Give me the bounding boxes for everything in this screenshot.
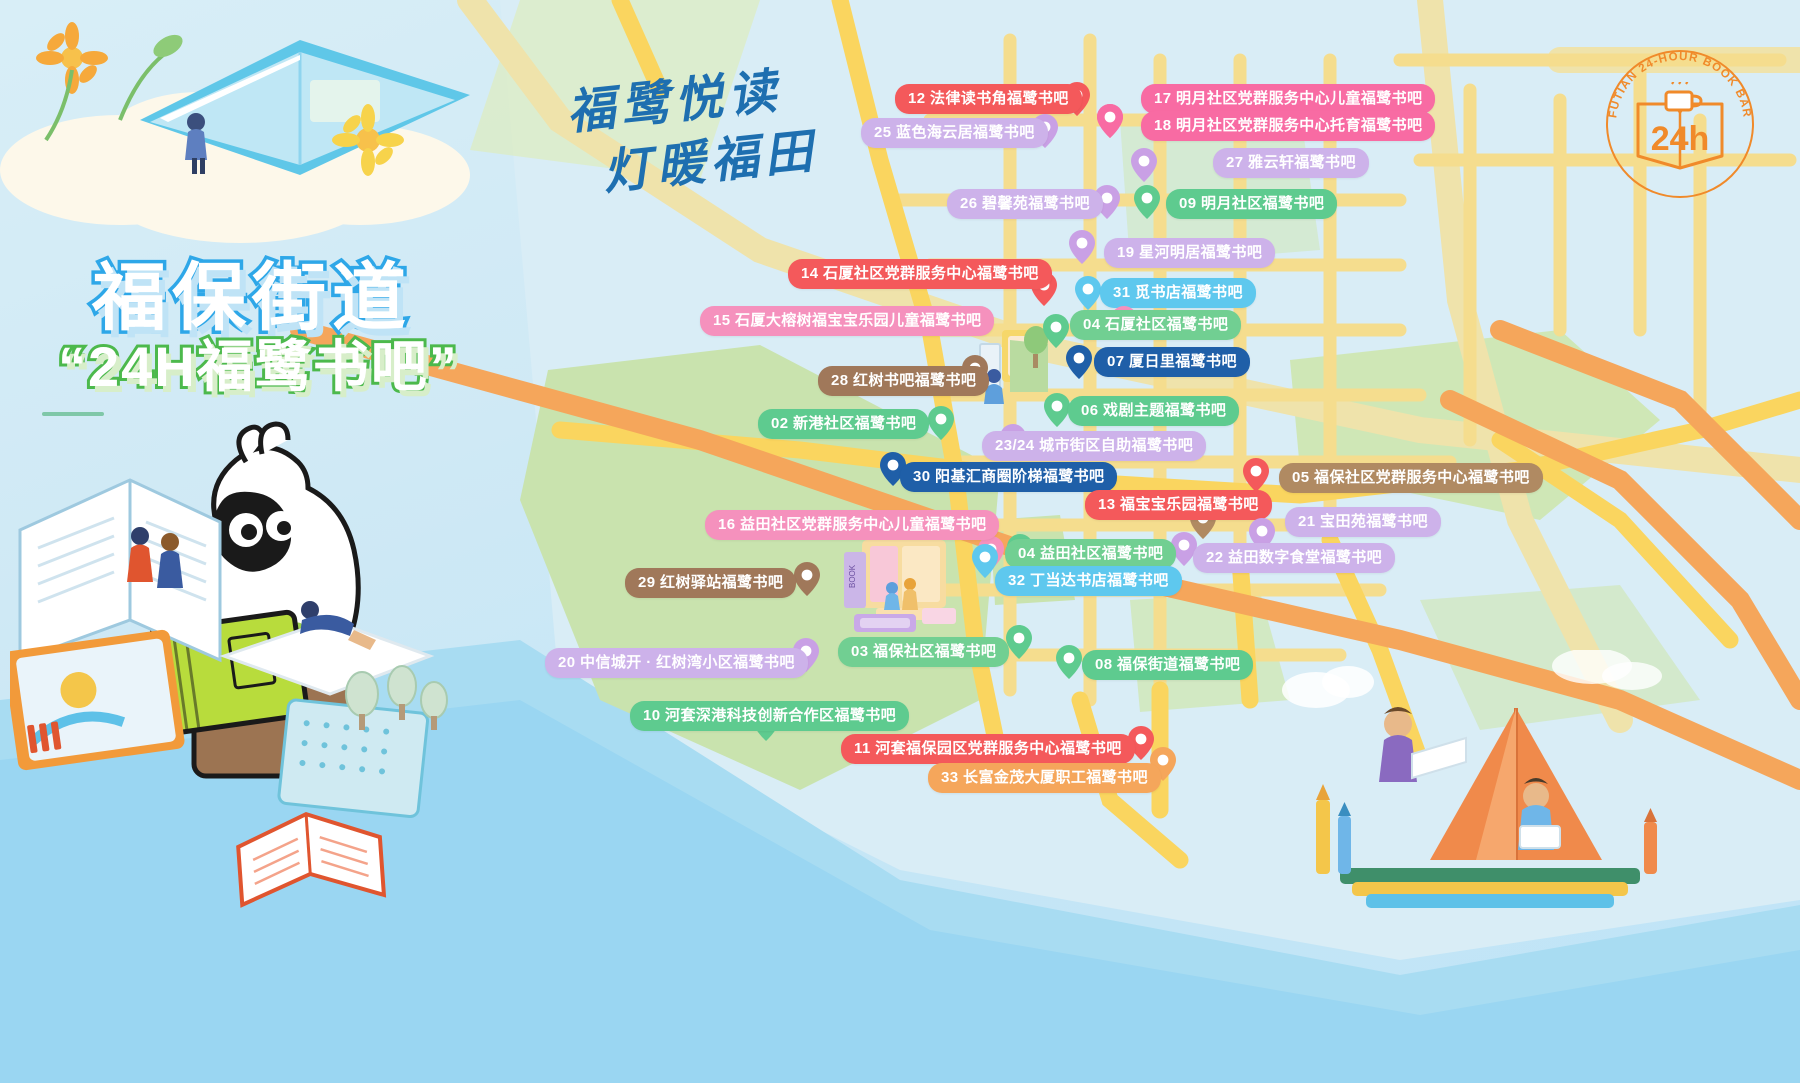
illustration-kids-tent-reading: [1280, 650, 1700, 920]
illustration-books-left: [10, 470, 490, 910]
map-label-30[interactable]: 30 阳基汇商圈阶梯福鹭书吧: [900, 462, 1117, 492]
map-label-21[interactable]: 21 宝田苑福鹭书吧: [1285, 507, 1441, 537]
map-label-20[interactable]: 20 中信城开 · 红树湾小区福鹭书吧: [545, 648, 808, 678]
map-pin-05[interactable]: [1243, 458, 1269, 492]
page-subtitle: “24H福鹭书吧”: [58, 322, 459, 403]
badge-center-label: 24h: [1651, 120, 1710, 158]
map-label-17[interactable]: 17 明月社区党群服务中心儿童福鹭书吧: [1141, 84, 1435, 114]
map-label-29[interactable]: 29 红树驿站福鹭书吧: [625, 568, 796, 598]
map-label-10[interactable]: 10 河套深港科技创新合作区福鹭书吧: [630, 701, 909, 731]
map-label-14[interactable]: 14 石厦社区党群服务中心福鹭书吧: [788, 259, 1052, 289]
map-pin-08[interactable]: [1056, 645, 1082, 679]
map-label-04a[interactable]: 04 石厦社区福鹭书吧: [1070, 310, 1241, 340]
map-pin-06[interactable]: [1044, 393, 1070, 427]
map-label-07[interactable]: 07 厦日里福鹭书吧: [1094, 347, 1250, 377]
map-label-22[interactable]: 22 益田数字食堂福鹭书吧: [1193, 543, 1395, 573]
map-pin-18[interactable]: [1097, 104, 1123, 138]
map-label-16[interactable]: 16 益田社区党群服务中心儿童福鹭书吧: [705, 510, 999, 540]
map-pin-03[interactable]: [1006, 625, 1032, 659]
map-label-32[interactable]: 32 丁当达书店福鹭书吧: [995, 566, 1182, 596]
map-pin-19[interactable]: [1069, 230, 1095, 264]
illustration-open-book-cloud: [0, 0, 520, 250]
map-label-09[interactable]: 09 明月社区福鹭书吧: [1166, 189, 1337, 219]
map-pin-29[interactable]: [794, 562, 820, 596]
map-pin-27[interactable]: [1131, 148, 1157, 182]
map-label-18[interactable]: 18 明月社区党群服务中心托育福鹭书吧: [1141, 111, 1435, 141]
coffee-cup-icon: [1666, 82, 1701, 110]
title-divider: [42, 412, 104, 416]
map-label-06[interactable]: 06 戏剧主题福鹭书吧: [1068, 396, 1239, 426]
illustration-reading-room: BOOK: [840, 530, 970, 640]
map-label-28[interactable]: 28 红树书吧福鹭书吧: [818, 366, 989, 396]
map-label-25[interactable]: 25 蓝色海云居福鹭书吧: [861, 118, 1048, 148]
map-pin-02[interactable]: [928, 406, 954, 440]
map-label-31[interactable]: 31 觅书店福鹭书吧: [1100, 278, 1256, 308]
map-label-04b[interactable]: 04 益田社区福鹭书吧: [1005, 539, 1176, 569]
map-label-08[interactable]: 08 福保街道福鹭书吧: [1082, 650, 1253, 680]
map-pin-04a[interactable]: [1043, 314, 1069, 348]
futian-24h-book-bar-badge: · FUTIAN 24-HOUR BOOK BAR · 24h: [1598, 42, 1762, 206]
map-label-33[interactable]: 33 长富金茂大厦职工福鹭书吧: [928, 763, 1161, 793]
map-label-19[interactable]: 19 星河明居福鹭书吧: [1104, 238, 1275, 268]
map-pin-09[interactable]: [1134, 185, 1160, 219]
map-label-15[interactable]: 15 石厦大榕树福宝宝乐园儿童福鹭书吧: [700, 306, 994, 336]
map-pin-31[interactable]: [1075, 276, 1101, 310]
map-label-03[interactable]: 03 福保社区福鹭书吧: [838, 637, 1009, 667]
map-label-2324[interactable]: 23/24 城市街区自助福鹭书吧: [982, 431, 1206, 461]
map-label-02[interactable]: 02 新港社区福鹭书吧: [758, 409, 929, 439]
poster-canvas: 福鹭悦读 灯暖福田 福保街道 “24H福鹭书吧” · FUTIAN 24-HOU…: [0, 0, 1800, 1083]
map-pin-07[interactable]: [1066, 345, 1092, 379]
map-label-11[interactable]: 11 河套福保园区党群服务中心福鹭书吧: [841, 734, 1135, 764]
svg-text:BOOK: BOOK: [848, 564, 857, 588]
map-label-27[interactable]: 27 雅云轩福鹭书吧: [1213, 148, 1369, 178]
map-label-05[interactable]: 05 福保社区党群服务中心福鹭书吧: [1279, 463, 1543, 493]
map-pin-32[interactable]: [972, 544, 998, 578]
map-label-13[interactable]: 13 福宝宝乐园福鹭书吧: [1085, 490, 1272, 520]
map-label-26[interactable]: 26 碧馨苑福鹭书吧: [947, 189, 1103, 219]
badge-inner-graphic: 24h: [1632, 82, 1728, 174]
map-label-12[interactable]: 12 法律读书角福鹭书吧: [895, 84, 1082, 114]
